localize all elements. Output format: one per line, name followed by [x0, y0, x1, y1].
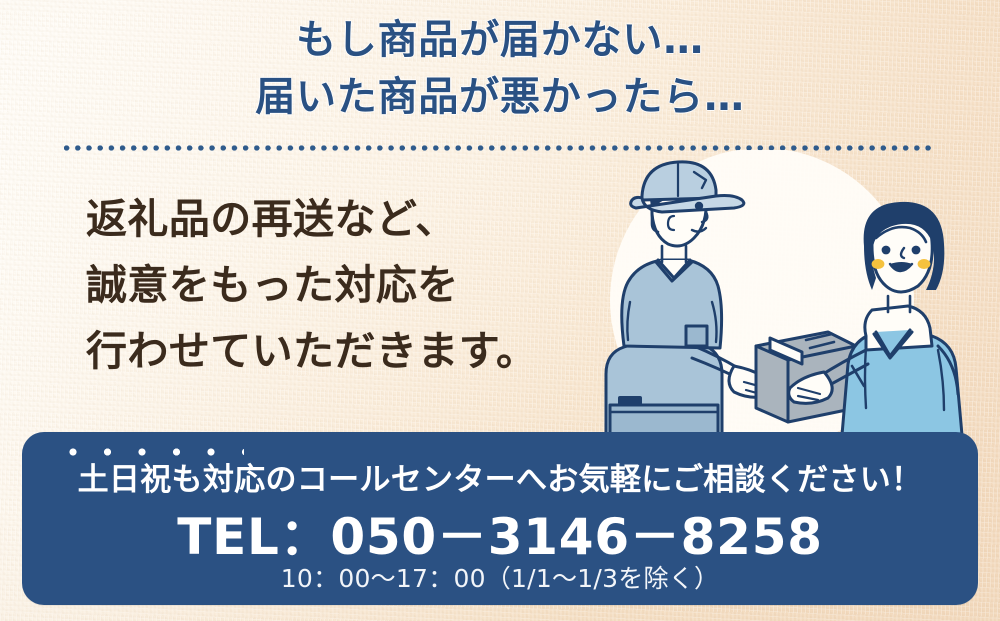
- callout-lead-text: 土日祝も対応のコールセンターへお気軽にご相談ください！: [22, 462, 978, 498]
- telephone-number[interactable]: TEL：050－3146－8258: [22, 508, 978, 566]
- banner-root: もし商品が届かない… 届いた商品が悪かったら… 返礼品の再送など、 誠意をもった…: [0, 0, 1000, 621]
- body-line-3: 行わせていただきます。: [86, 318, 556, 384]
- header-headline: もし商品が届かない… 届いた商品が悪かったら…: [0, 12, 1000, 126]
- business-hours: 10：00〜17：00（1/1〜1/3を除く）: [22, 564, 978, 594]
- body-line-1: 返礼品の再送など、: [86, 186, 556, 252]
- header-line-1: もし商品が届かない…: [0, 12, 1000, 69]
- body-copy: 返礼品の再送など、 誠意をもった対応を 行わせていただきます。: [86, 186, 556, 384]
- delivery-handover-illustration: [566, 150, 966, 435]
- emphasis-dots: [69, 448, 244, 457]
- body-line-2: 誠意をもった対応を: [86, 252, 556, 318]
- contact-callout-box: 土日祝も対応のコールセンターへお気軽にご相談ください！ TEL：050－3146…: [22, 432, 978, 605]
- highlighted-phrase: 返礼品の再送: [86, 186, 334, 252]
- body-line-1-rest: など、: [334, 195, 456, 243]
- header-line-2: 届いた商品が悪かったら…: [0, 69, 1000, 126]
